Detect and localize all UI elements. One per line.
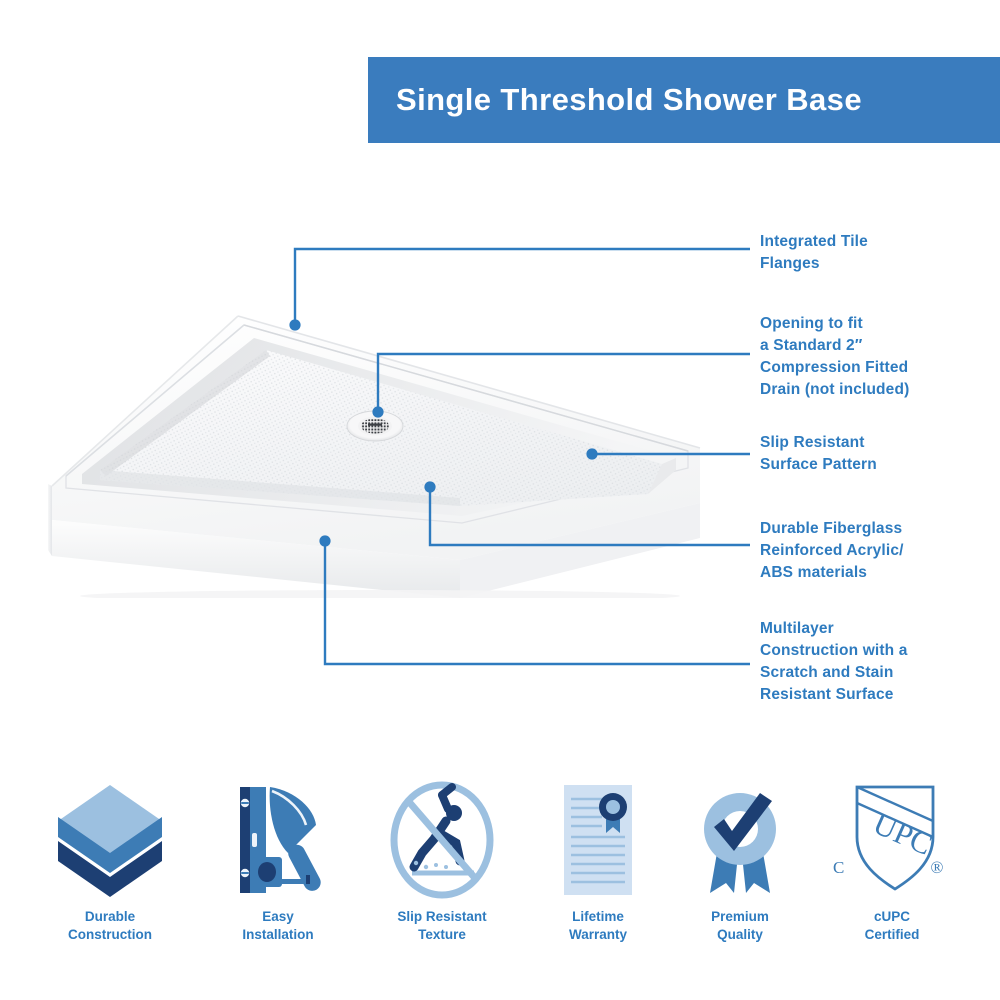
callout-integrated-tile-flanges: Integrated Tile Flanges — [760, 231, 868, 275]
feature-label: Slip Resistant Texture — [397, 908, 486, 944]
feature-label: Durable Construction — [68, 908, 152, 944]
callout-durable-materials: Durable Fiberglass Reinforced Acrylic/ A… — [760, 518, 904, 584]
leader-dot-slip-resistant-surface — [586, 448, 597, 459]
leader-line-multilayer-construction — [325, 541, 750, 664]
callout-multilayer-construction: Multilayer Construction with a Scratch a… — [760, 618, 908, 706]
feature-label: Premium Quality — [711, 908, 769, 944]
leader-dot-durable-materials — [424, 481, 435, 492]
feature-label: cUPC Certified — [865, 908, 920, 944]
leader-dot-drain-opening — [372, 406, 383, 417]
feature-easy-installation: Easy Installation — [198, 780, 358, 944]
feature-slip-resistant-texture: Slip Resistant Texture — [362, 780, 522, 944]
infographic-canvas: Single Threshold Shower Base — [0, 0, 1000, 1000]
no-slipping-icon — [382, 780, 502, 900]
cupc-registered-mark: ® — [931, 858, 944, 877]
feature-premium-quality: Premium Quality — [660, 780, 820, 944]
checkmark-rosette-icon — [680, 780, 800, 900]
leader-dot-multilayer-construction — [319, 535, 330, 546]
certificate-ribbon-icon — [538, 780, 658, 900]
leader-dot-integrated-tile-flanges — [289, 319, 300, 330]
callout-slip-resistant-surface: Slip Resistant Surface Pattern — [760, 432, 877, 476]
leader-line-durable-materials — [430, 487, 750, 545]
level-trowel-tape-icon — [218, 780, 338, 900]
leader-line-integrated-tile-flanges — [295, 249, 750, 325]
cupc-left-mark: C — [833, 858, 844, 877]
stacked-layers-icon — [50, 780, 170, 900]
feature-durable-construction: Durable Construction — [30, 780, 190, 944]
callout-drain-opening: Opening to fit a Standard 2″ Compression… — [760, 313, 909, 401]
feature-lifetime-warranty: Lifetime Warranty — [518, 780, 678, 944]
upc-shield-icon: UPC C ® — [827, 780, 957, 900]
feature-label: Lifetime Warranty — [569, 908, 627, 944]
upc-banner-text: UPC — [868, 805, 937, 862]
feature-label: Easy Installation — [242, 908, 313, 944]
leader-line-drain-opening — [378, 354, 750, 412]
feature-icon-row: Durable Construction — [0, 780, 1000, 980]
feature-cupc-certified: UPC C ® cUPC Certified — [812, 780, 972, 944]
